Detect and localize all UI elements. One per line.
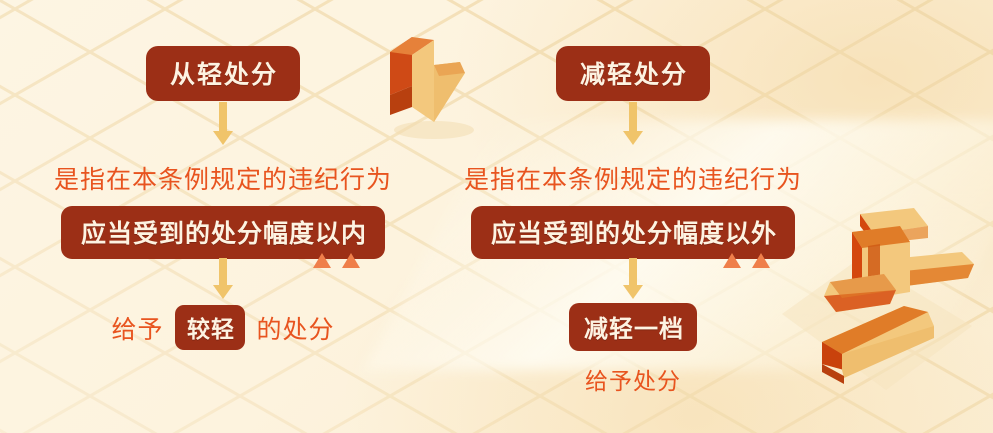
result-badge-label: 减轻一档 [569, 303, 697, 351]
infographic-canvas: 从轻处分 是指在本条例规定的违纪行为 应当受到的处分幅度以内 给予 [0, 0, 993, 433]
triangle-icon [723, 253, 741, 268]
result-prefix-label: 给予 [112, 310, 164, 346]
connector-arrow-light-2 [212, 258, 234, 302]
connector-arrow-reduced-2 [622, 258, 644, 302]
triangle-icon [313, 253, 331, 268]
emphasis-badge-light: 应当受到的处分幅度以内 [8, 206, 438, 259]
triangle-icon [342, 253, 360, 268]
double-triangle-marker-light [313, 253, 360, 268]
judge-gavel-icon [782, 186, 993, 416]
definition-label: 是指在本条例规定的违纪行为 [54, 167, 392, 194]
heading-badge-label: 减轻处分 [556, 46, 710, 101]
result-suffix-label: 的处分 [256, 310, 334, 346]
double-triangle-marker-reduced [723, 253, 770, 268]
connector-arrow-light-1 [212, 102, 234, 146]
connector-arrow-reduced-1 [622, 102, 644, 146]
definition-text-light: 是指在本条例规定的违纪行为 [8, 160, 438, 196]
result-caption-label: 给予处分 [585, 369, 681, 394]
emphasis-badge-label: 应当受到的处分幅度以外 [471, 206, 795, 259]
result-inline-badge: 较轻 [175, 305, 245, 350]
emphasis-badge-label: 应当受到的处分幅度以内 [61, 206, 385, 259]
down-arrow-3d-icon [372, 10, 484, 140]
result-line-light: 给予 较轻 的处分 [8, 305, 438, 350]
triangle-icon [752, 253, 770, 268]
heading-badge-label: 从轻处分 [146, 46, 300, 101]
definition-label: 是指在本条例规定的违纪行为 [464, 167, 802, 194]
